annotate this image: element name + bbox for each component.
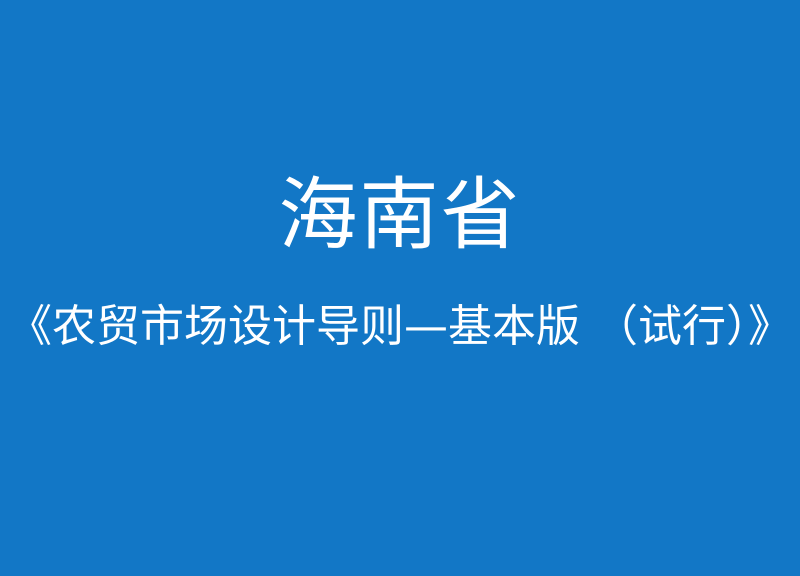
slide-subtitle: 《农贸市场设计导则—基本版 （试行）》	[0, 296, 800, 358]
title-slide: 海南省 《农贸市场设计导则—基本版 （试行）》	[0, 0, 800, 576]
slide-title: 海南省	[0, 163, 800, 267]
